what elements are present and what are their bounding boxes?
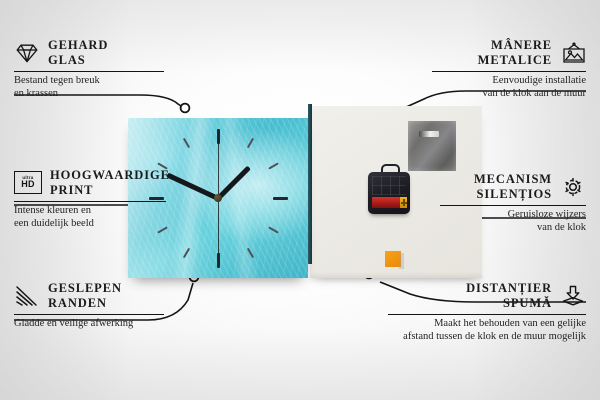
divider [14,201,166,202]
clock-tick [273,197,288,200]
feature-title: GEHARD GLAS [48,38,108,67]
battery-terminal-icon [400,197,407,208]
minute-hand [166,172,219,200]
feature-description: Gladde en veilige afwerking [14,318,164,331]
feature-title: GESLEPEN RANDEN [48,281,122,310]
feature-title: MECANISM SILENȚIOS [474,172,552,201]
feature-geslepen-randen[interactable]: GESLEPEN RANDEN Gladde en veilige afwerk… [14,281,164,331]
clock-tick [268,226,279,233]
clock-tick [246,248,253,259]
foam-spacer [385,251,401,267]
clock-tick [182,248,189,259]
infographic-canvas: GEHARD GLAS Bestand tegen breuk en krass… [0,0,600,400]
beveled-edges-icon [14,285,40,307]
hour-hand [216,165,251,200]
feature-title: MÂNERE METALICE [478,38,552,67]
divider [14,71,164,72]
feature-gehard-glas[interactable]: GEHARD GLAS Bestand tegen breuk en krass… [14,38,164,100]
feature-description: Intense kleuren en een duidelijk beeld [14,205,166,230]
mechanism-grid-icon [372,176,406,195]
divider [440,205,586,206]
spacer-arrow-icon [560,285,586,307]
ultra-hd-icon: ultra HD [14,171,42,194]
metal-hanger-plate [408,121,456,171]
diamond-icon [14,42,40,64]
divider [14,314,164,315]
feature-title: HOOGWAARDIGE PRINT [50,168,170,197]
clock-tick [182,137,189,148]
ultra-hd-icon-bottom: HD [21,180,34,189]
clock-tick [268,162,279,169]
feature-distantier-spuma[interactable]: DISTANȚIER SPUMĂ Maakt het behouden van … [388,281,586,343]
feature-description: Geruisloze wijzers van de klok [440,209,586,234]
feature-manere-metalice[interactable]: MÂNERE METALICE Eenvoudige installatie v… [432,38,586,100]
hanger-slot-icon [419,131,439,137]
feature-mecanism-silentios[interactable]: MECANISM SILENȚIOS Geruisloze wijzers va… [440,172,586,234]
clock-tick [246,137,253,148]
picture-frame-icon [560,42,586,64]
feature-hoogwaardige-print[interactable]: ultra HD HOOGWAARDIGE PRINT Intense kleu… [14,168,166,230]
feature-title: DISTANȚIER SPUMĂ [466,281,552,310]
clock-glass-edge [308,104,312,264]
clock-hub [214,194,222,202]
divider [432,71,586,72]
product-photo [128,104,482,280]
divider [388,314,586,315]
feature-description: Eenvoudige installatie van de klok aan d… [432,75,586,100]
feature-description: Bestand tegen breuk en krassen [14,75,164,100]
gear-icon [560,176,586,198]
feature-description: Maakt het behouden van een gelijke afsta… [388,318,586,343]
